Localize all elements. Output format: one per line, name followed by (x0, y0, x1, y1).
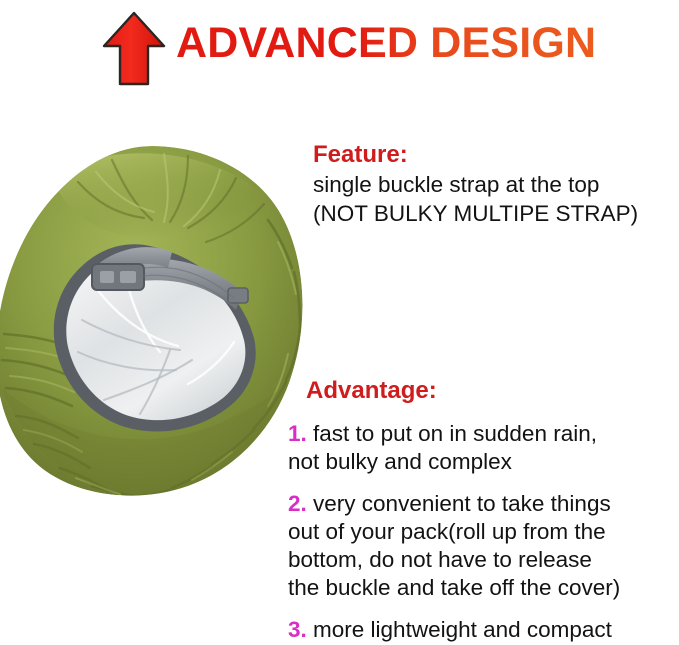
advantage-item-1-marker: 1. (288, 421, 307, 446)
feature-heading: Feature: (313, 140, 678, 170)
advantage-item-2-text-1: very convenient to take things (313, 491, 611, 516)
page-title: ADVANCED DESIGN (176, 18, 596, 68)
advantage-item-3-line-1: 3. more lightweight and compact (288, 616, 678, 644)
advantage-item-1-line-2: not bulky and complex (288, 448, 678, 476)
up-arrow-icon (100, 10, 168, 88)
infographic-page: ADVANCED DESIGN (0, 0, 679, 645)
advantage-item-1-line-1: 1. fast to put on in sudden rain, (288, 420, 678, 448)
advantage-item-1: 1. fast to put on in sudden rain, not bu… (288, 420, 678, 476)
advantage-item-3: 3. more lightweight and compact (288, 616, 678, 644)
advantage-item-2-marker: 2. (288, 491, 307, 516)
header-banner: ADVANCED DESIGN (0, 0, 679, 110)
advantage-item-2-line-3: bottom, do not have to release (288, 546, 678, 574)
feature-line-2: (NOT BULKY MULTIPE STRAP) (313, 199, 678, 228)
advantage-item-2: 2. very convenient to take things out of… (288, 490, 678, 602)
buckle-icon (92, 264, 144, 290)
advantage-item-1-text-1: fast to put on in sudden rain, (313, 421, 597, 446)
advantage-item-2-line-4: the buckle and take off the cover) (288, 574, 678, 602)
product-image-rain-cover (0, 138, 312, 510)
advantage-item-3-text-1: more lightweight and compact (313, 617, 612, 642)
advantage-item-3-marker: 3. (288, 617, 307, 642)
advantage-item-2-line-1: 2. very convenient to take things (288, 490, 678, 518)
advantage-heading: Advantage: (306, 376, 678, 406)
feature-section: Feature: single buckle strap at the top … (306, 140, 678, 228)
advantage-section: Advantage: 1. fast to put on in sudden r… (288, 376, 678, 644)
feature-line-1: single buckle strap at the top (313, 170, 678, 199)
advantage-item-2-line-2: out of your pack(roll up from the (288, 518, 678, 546)
